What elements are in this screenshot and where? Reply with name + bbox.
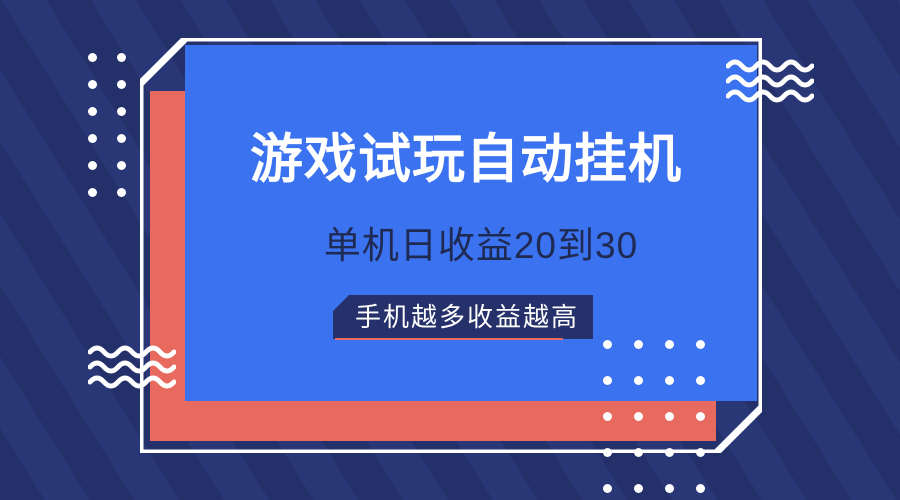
dot-cell xyxy=(107,179,136,206)
dot-cell xyxy=(654,362,685,398)
dot xyxy=(665,484,674,493)
banner-subline: 单机日收益20到30 xyxy=(205,227,757,264)
dot-cell xyxy=(78,125,107,152)
dot-cell xyxy=(654,470,685,500)
dot xyxy=(603,340,612,349)
dot xyxy=(88,134,97,143)
dot xyxy=(88,161,97,170)
dot xyxy=(88,53,97,62)
promo-banner: 游戏试玩自动挂机 单机日收益20到30 手机越多收益越高 xyxy=(0,0,900,500)
dot xyxy=(696,484,705,493)
dot-cell xyxy=(623,470,654,500)
dot-cell xyxy=(623,326,654,362)
dot xyxy=(665,340,674,349)
dot-cell xyxy=(623,434,654,470)
dot-cell xyxy=(623,362,654,398)
dot-cell xyxy=(107,71,136,98)
dot xyxy=(634,484,643,493)
dot xyxy=(634,340,643,349)
banner-headline: 游戏试玩自动挂机 xyxy=(185,133,747,186)
dot-cell xyxy=(685,434,716,470)
dot xyxy=(117,53,126,62)
dot xyxy=(634,412,643,421)
dot-cell xyxy=(592,398,623,434)
dot xyxy=(88,188,97,197)
dot xyxy=(603,484,612,493)
dot-cell xyxy=(78,98,107,125)
dot xyxy=(603,376,612,385)
dot-cell xyxy=(685,362,716,398)
decorative-wave-lines-bottom-left xyxy=(88,344,176,390)
dot xyxy=(696,376,705,385)
dot-cell xyxy=(685,470,716,500)
dot-cell xyxy=(592,434,623,470)
dot xyxy=(634,376,643,385)
dot-cell xyxy=(107,98,136,125)
dot-cell xyxy=(78,152,107,179)
dot xyxy=(117,134,126,143)
dot-cell xyxy=(78,179,107,206)
banner-badge-label: 手机越多收益越高 xyxy=(355,304,579,330)
dot-cell xyxy=(685,326,716,362)
decorative-dot-grid-top-left xyxy=(78,44,136,206)
dot xyxy=(603,412,612,421)
dot xyxy=(117,107,126,116)
dot xyxy=(634,448,643,457)
dot-cell xyxy=(654,398,685,434)
dot-cell xyxy=(654,326,685,362)
dot-cell xyxy=(654,434,685,470)
decorative-wave-lines-top-right xyxy=(726,58,814,104)
dot xyxy=(88,80,97,89)
dot-cell xyxy=(592,362,623,398)
dot xyxy=(117,188,126,197)
dot xyxy=(665,448,674,457)
dot-cell xyxy=(685,398,716,434)
dot-cell xyxy=(592,470,623,500)
dot xyxy=(665,376,674,385)
dot xyxy=(696,412,705,421)
dot xyxy=(665,412,674,421)
dot-cell xyxy=(78,71,107,98)
banner-badge-underline xyxy=(335,338,563,340)
banner-badge: 手机越多收益越高 xyxy=(333,295,593,339)
dot xyxy=(696,448,705,457)
dot-cell xyxy=(623,398,654,434)
dot-cell xyxy=(107,152,136,179)
dot-cell xyxy=(107,44,136,71)
dot-cell xyxy=(78,44,107,71)
dot xyxy=(117,161,126,170)
dot xyxy=(603,448,612,457)
dot xyxy=(117,80,126,89)
decorative-dot-grid-bottom-right xyxy=(592,326,716,500)
dot xyxy=(88,107,97,116)
dot-cell xyxy=(592,326,623,362)
dot xyxy=(696,340,705,349)
dot-cell xyxy=(107,125,136,152)
